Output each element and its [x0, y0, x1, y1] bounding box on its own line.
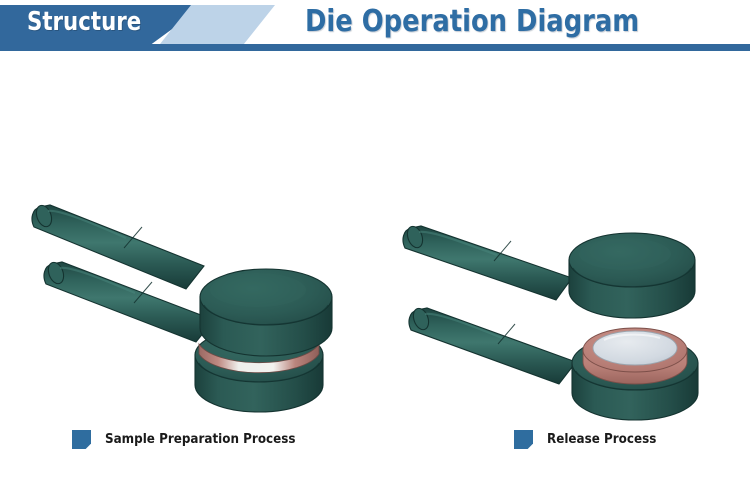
release-upper-die-body: [569, 233, 695, 318]
legend-label: Release Process: [547, 432, 656, 447]
legend-item-release: Release Process: [514, 430, 666, 449]
section-label: Structure: [27, 7, 141, 37]
die-operation-diagram-page: Structure Die Operation Diagram: [0, 0, 750, 483]
release-lower-die-with-handle: [409, 306, 698, 420]
release-upper-die-with-handle: [403, 224, 695, 318]
legend-swatch-icon: [514, 430, 533, 449]
pressed-pellet: [583, 328, 687, 384]
page-title: Die Operation Diagram: [305, 4, 639, 39]
release-assembly: [403, 224, 698, 420]
legend-swatch-icon: [72, 430, 91, 449]
sample-preparation-assembly: [32, 203, 332, 412]
release-upper-die-handle: [403, 224, 572, 300]
die-assembly-illustration: [0, 52, 750, 422]
release-lower-die-handle: [409, 306, 576, 384]
page-header: Structure Die Operation Diagram: [0, 0, 750, 52]
legend-label: Sample Preparation Process: [105, 432, 295, 447]
legend-item-sample-preparation: Sample Preparation Process: [72, 430, 312, 449]
upper-die-body: [200, 269, 332, 356]
header-bottom-rule: [0, 44, 750, 51]
diagram-canvas: [0, 52, 750, 422]
